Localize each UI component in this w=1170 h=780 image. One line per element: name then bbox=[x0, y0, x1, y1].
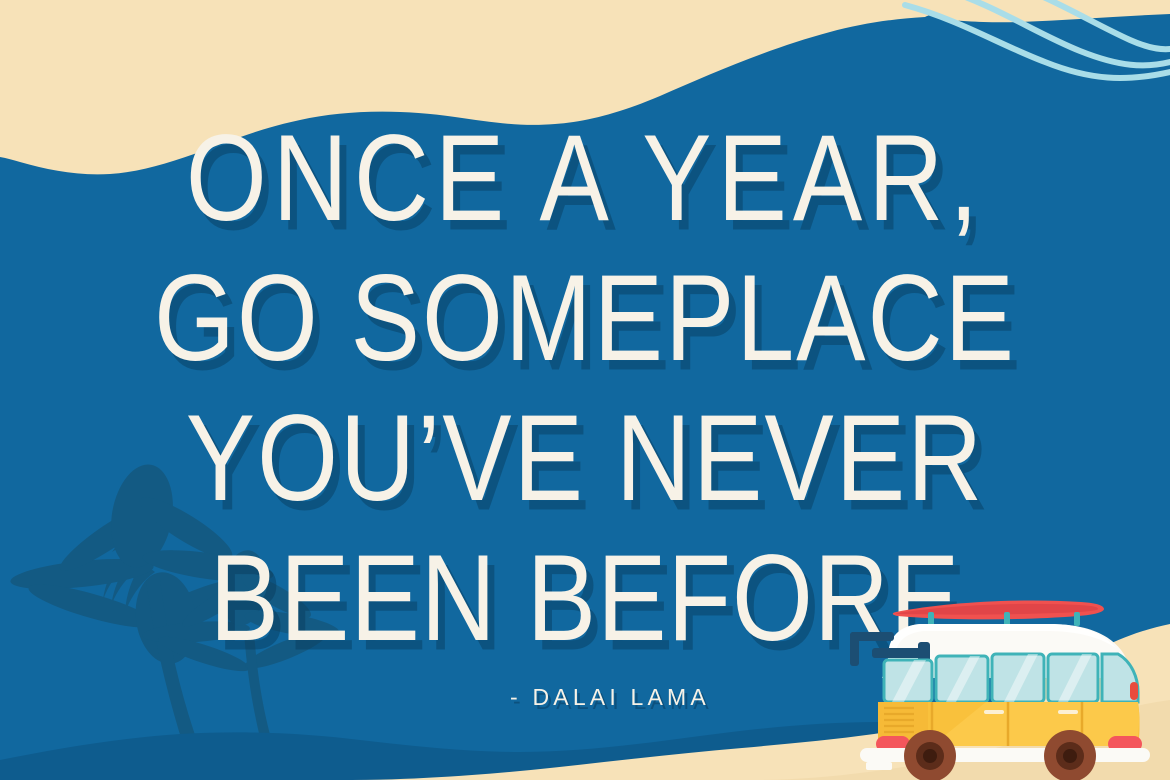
step bbox=[866, 762, 892, 770]
wave-line-1 bbox=[905, 5, 1170, 78]
surfboard bbox=[893, 600, 1104, 619]
wave-line-2 bbox=[940, 0, 1170, 65]
quote-text-block: ONCE A YEAR, GO SOMEPLACE YOU’VE NEVER B… bbox=[0, 96, 1170, 656]
attribution-text: - DALAI LAMA bbox=[510, 684, 710, 711]
tail-light bbox=[1130, 682, 1138, 700]
quote-poster: ONCE A YEAR, GO SOMEPLACE YOU’VE NEVER B… bbox=[0, 0, 1170, 780]
wheel-rear bbox=[904, 730, 956, 780]
running-board bbox=[860, 748, 1150, 762]
wave-line-3 bbox=[1000, 0, 1170, 49]
vw-camper-van-illustration bbox=[836, 586, 1170, 780]
wheel-front bbox=[1044, 730, 1096, 780]
